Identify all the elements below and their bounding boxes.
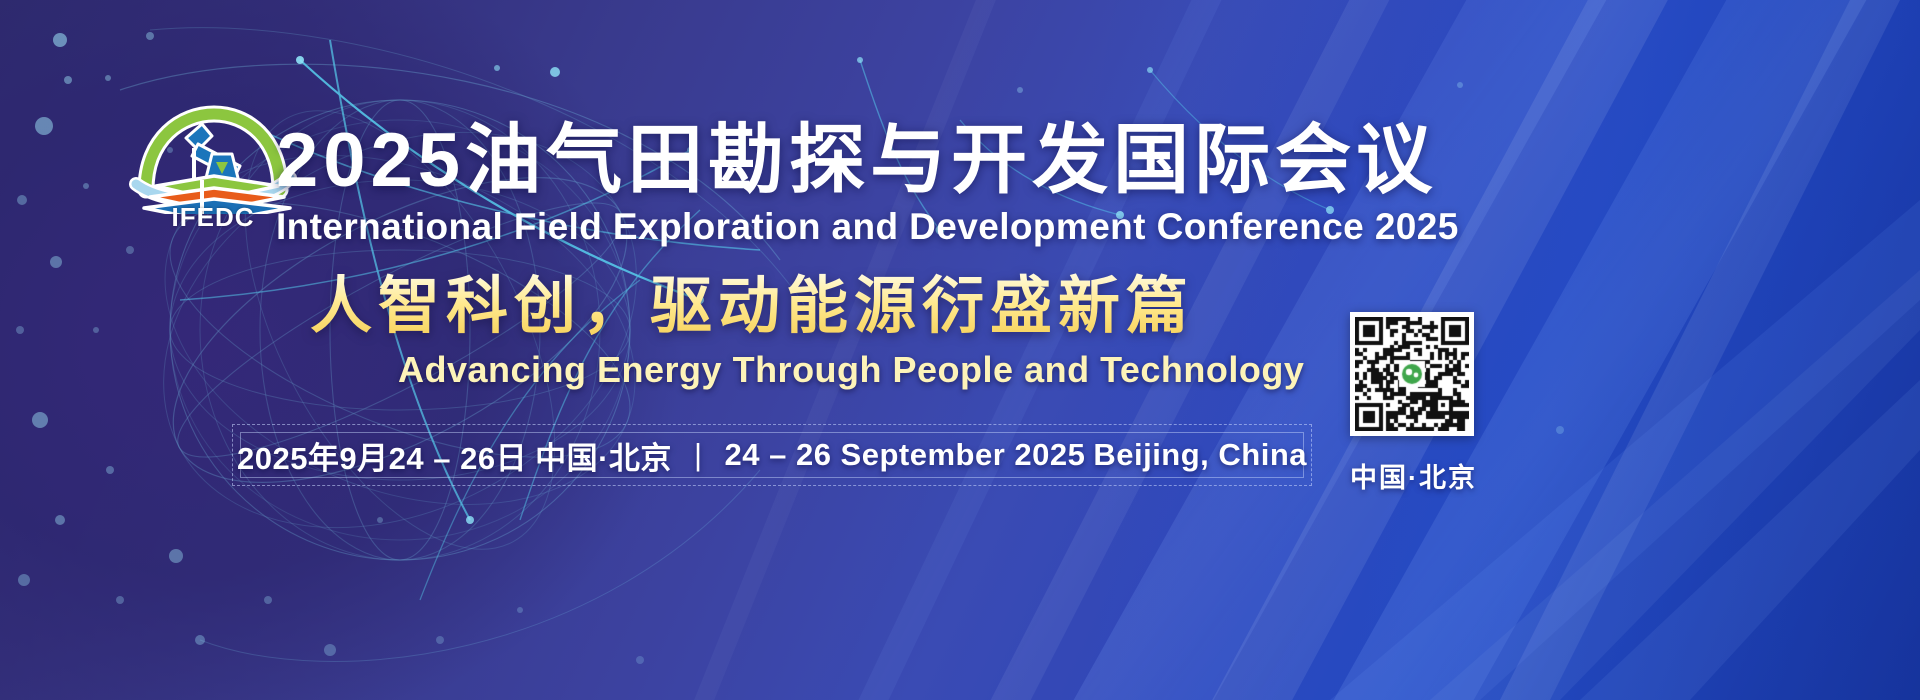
date-divider: | bbox=[676, 437, 721, 473]
qr-block: 中国·北京 bbox=[1350, 312, 1474, 495]
slogan-cn: 人智科创，驱动能源衍盛新篇 bbox=[310, 272, 1194, 342]
qr-canvas bbox=[1355, 317, 1469, 431]
conference-title-cn: 2025油气田勘探与开发国际会议 bbox=[276, 118, 1436, 204]
ifedc-logo: IFEDC bbox=[128, 104, 298, 239]
qr-code[interactable] bbox=[1350, 312, 1474, 436]
date-cn: 2025年9月24 – 26日 bbox=[233, 433, 531, 478]
ifedc-logo-mark bbox=[128, 104, 298, 214]
date-en: 24 – 26 September 2025 bbox=[721, 437, 1090, 473]
conference-banner: IFEDC 2025油气田勘探与开发国际会议 International Fie… bbox=[0, 0, 1920, 700]
ifedc-wordmark: IFEDC bbox=[128, 202, 298, 233]
date-location-text: 2025年9月24 – 26日 中国·北京 | 24 – 26 Septembe… bbox=[232, 424, 1312, 486]
location-cn: 中国·北京 bbox=[531, 433, 676, 478]
qr-caption: 中国·北京 bbox=[1350, 456, 1474, 495]
headline-block: 2025油气田勘探与开发国际会议 International Field Exp… bbox=[276, 118, 1436, 248]
location-en: Beijing, China bbox=[1089, 437, 1311, 473]
date-location-bar: 2025年9月24 – 26日 中国·北京 | 24 – 26 Septembe… bbox=[232, 424, 1312, 486]
slogan-en: Advancing Energy Through People and Tech… bbox=[398, 349, 1304, 391]
conference-title-en: International Field Exploration and Deve… bbox=[276, 206, 1436, 248]
